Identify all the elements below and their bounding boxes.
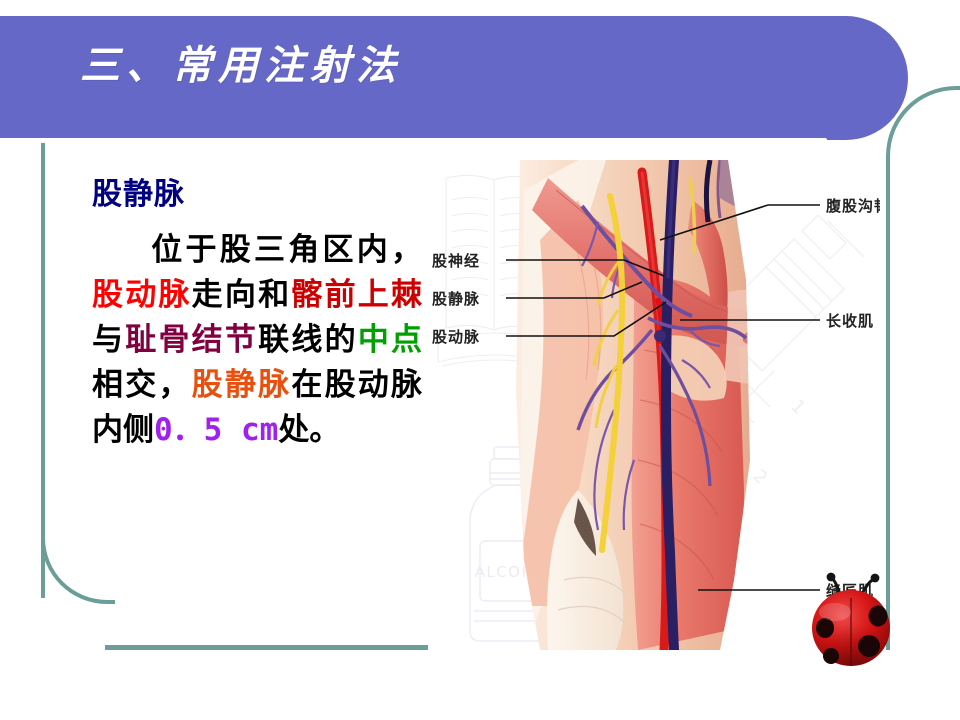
page-title: 三、常用注射法 xyxy=(80,40,402,92)
leader-femoral-nerve xyxy=(506,260,664,276)
section-heading: 股静脉 xyxy=(92,176,422,214)
text-seg-asis: 髂前上棘 xyxy=(291,277,422,313)
text-seg-intersect: 相交， xyxy=(92,367,192,403)
text-seg-pubic-tubercle-a: 耻骨结 xyxy=(125,322,225,358)
text-seg-location: 位于股三角区 xyxy=(148,232,357,268)
text-seg-femoral-vein: 股静脉 xyxy=(192,367,292,403)
label-adductor-longus: 长收肌 xyxy=(826,310,874,331)
text-seg-inside: 内， xyxy=(357,232,422,268)
text-seg-midpoint: 中点 xyxy=(358,322,422,358)
label-femoral-vein: 股静脉 xyxy=(432,288,480,309)
text-seg-and: 与 xyxy=(92,322,125,358)
frame-right-border xyxy=(886,86,960,650)
text-seg-at: 处。 xyxy=(278,412,340,448)
frame-bottom-left-corner xyxy=(41,530,115,604)
text-column: 股静脉 位于股三角区内，股动脉走向和髂前上棘与耻骨结节联线的中点相交，股静脉在股… xyxy=(92,176,422,453)
text-seg-distance: 0．5 cm xyxy=(154,412,278,448)
banner-underline xyxy=(0,138,827,143)
label-inguinal-ligament: 腹股沟韧带 xyxy=(826,195,880,216)
leader-inguinal-ligament xyxy=(660,205,768,240)
frame-left-border xyxy=(41,138,45,598)
label-femoral-nerve: 股神经 xyxy=(432,250,480,271)
slide: 三、常用注射法 股静脉 位于股三角区内，股动脉走向和髂前上棘与耻骨结节联线的中点… xyxy=(0,0,960,720)
text-seg-course: 走向和 xyxy=(192,277,292,313)
label-femoral-artery: 股动脉 xyxy=(432,326,480,347)
leader-femoral-artery xyxy=(506,302,666,336)
leader-femoral-vein xyxy=(506,282,642,298)
text-seg-pubic-tubercle-b: 节 xyxy=(225,322,258,358)
text-seg-side: 侧 xyxy=(123,412,154,448)
body-paragraph: 位于股三角区内，股动脉走向和髂前上棘与耻骨结节联线的中点相交，股静脉在股动脉内侧… xyxy=(92,228,422,453)
ladybug-icon xyxy=(795,570,915,680)
text-seg-femoral-artery: 股动脉 xyxy=(92,277,192,313)
text-seg-line-of: 联线的 xyxy=(258,322,358,358)
